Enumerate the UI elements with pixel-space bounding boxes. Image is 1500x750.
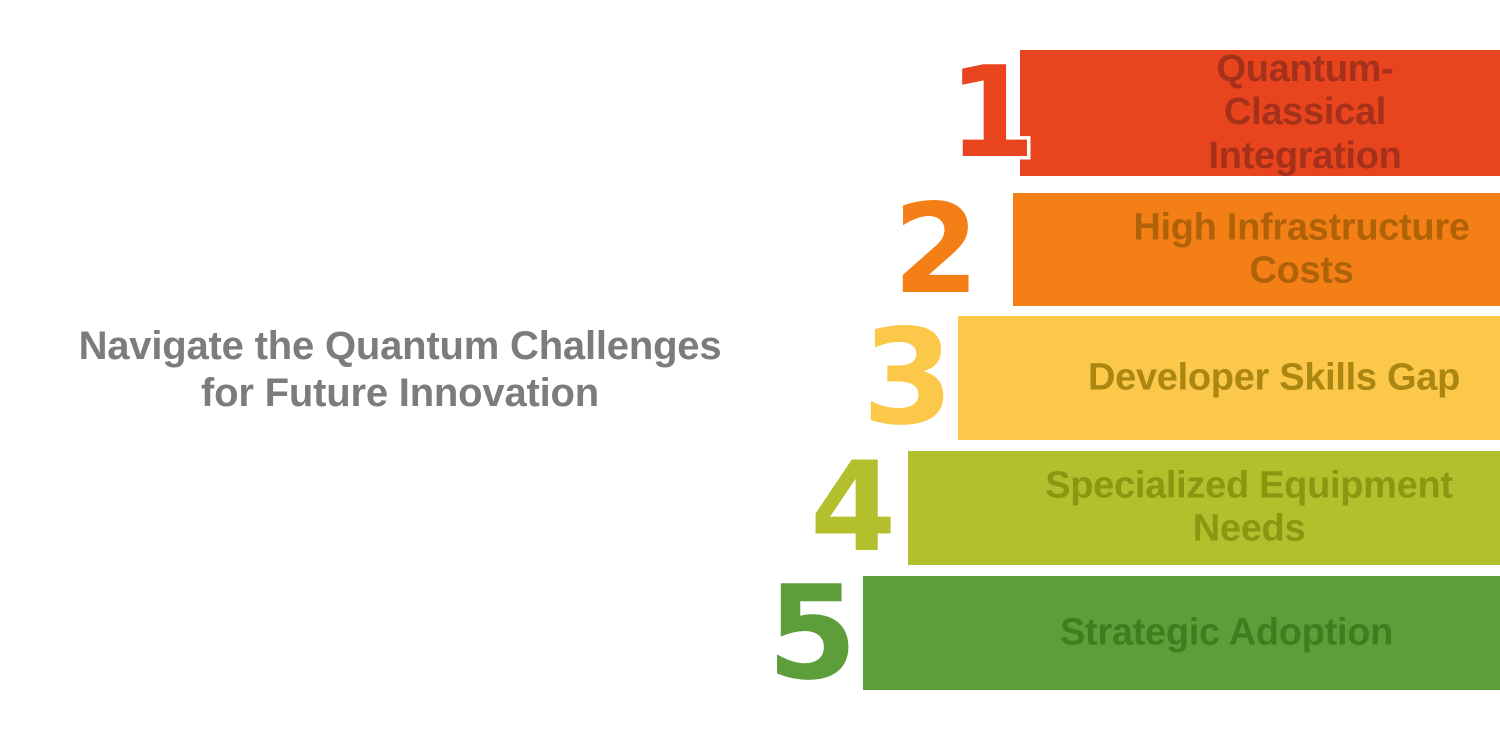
list-item-step-1[interactable]: Quantum-Classical Integration 1 1 [1020, 50, 1500, 176]
step-label-4: Specialized Equipment Needs [1028, 465, 1470, 552]
step-number-2: 2 [893, 188, 979, 312]
step-label-3: Developer Skills Gap [1078, 356, 1470, 399]
list-item-step-2[interactable]: High Infrastructure Costs 2 2 [1013, 193, 1500, 306]
infographic-canvas: Navigate the Quantum Challenges for Futu… [0, 0, 1500, 750]
list-item-step-3[interactable]: Developer Skills Gap 3 3 [958, 316, 1500, 440]
list-item-step-5[interactable]: Strategic Adoption 5 5 [863, 576, 1500, 690]
step-number-1: 1 [948, 50, 1036, 176]
step-label-1: Quantum-Classical Integration [1140, 48, 1470, 178]
list-item-step-4[interactable]: Specialized Equipment Needs 4 4 [908, 451, 1500, 565]
ranked-steps-list: Quantum-Classical Integration 1 1 High I… [0, 0, 1500, 750]
step-number-5: 5 [767, 568, 857, 698]
step-number-4: 4 [810, 446, 896, 570]
step-label-2: High Infrastructure Costs [1133, 206, 1470, 293]
step-number-3: 3 [862, 312, 954, 444]
step-label-5: Strategic Adoption [983, 611, 1470, 654]
